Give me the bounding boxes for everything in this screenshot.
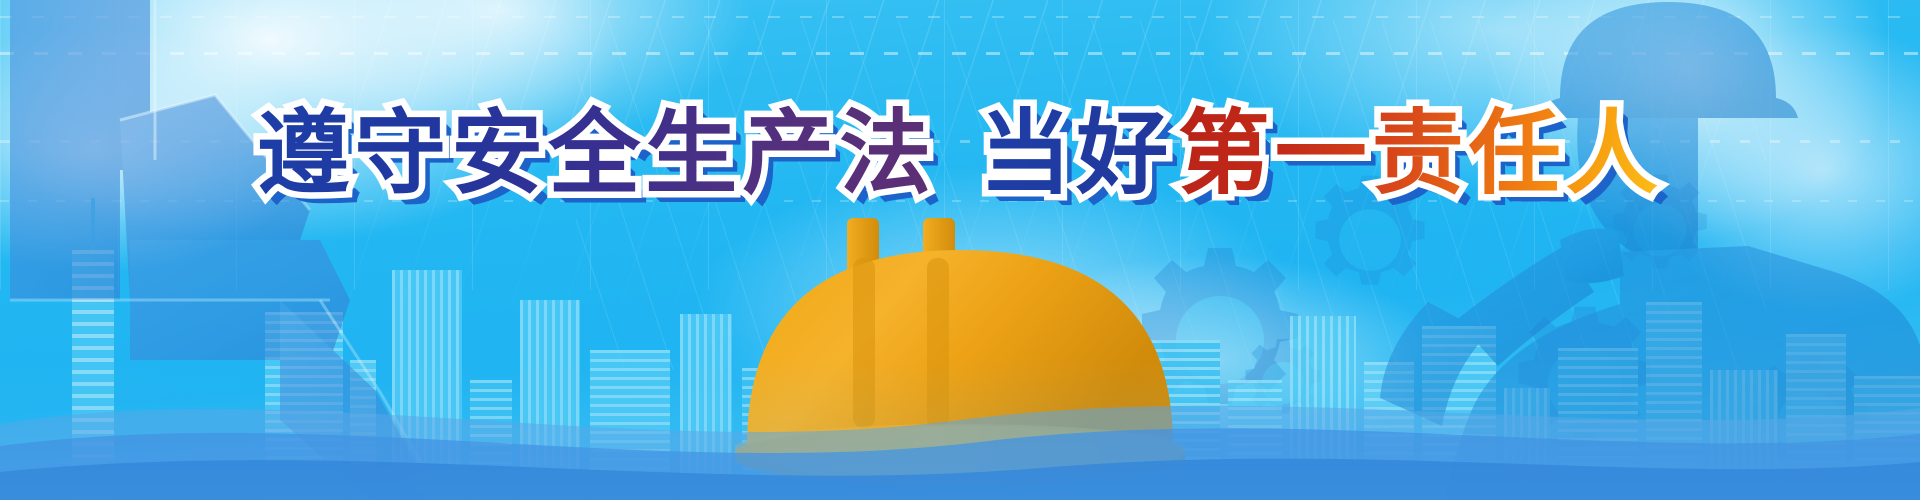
horizontal-dashed-tech-lines-secondary: [0, 0, 1920, 310]
headline-segment-3: 第一责任人 第一责任人: [1178, 108, 1663, 200]
headline-segment-2: 当好 当好: [979, 108, 1173, 200]
gear-icon: [1235, 335, 1331, 431]
headline-segment-3-fill: 第一责任人: [1178, 100, 1663, 207]
diagonal-perspective-rays-secondary: [576, 20, 1766, 370]
gear-icon: [1735, 350, 1885, 500]
safety-helmet-graphic: [735, 218, 1185, 500]
bottom-waves: [0, 350, 1920, 500]
headline-segment-1-fill: 遵守安全生产法: [257, 100, 936, 207]
gear-icon: [1500, 300, 1670, 470]
worker-silhouette: [1260, 0, 1920, 500]
sky-clouds-background: [0, 0, 1920, 500]
headline-segment-1: 遵守安全生产法 遵守安全生产法: [257, 108, 936, 200]
headline-segment-2-fill: 当好: [979, 100, 1173, 207]
gear-icon: [1120, 240, 1320, 440]
headline: 遵守安全生产法 遵守安全生产法 当好 当好 第一责任人 第一责任人: [0, 108, 1920, 200]
gear-icon: [1300, 170, 1440, 310]
vertical-grid-lines: [0, 0, 1920, 290]
robot-arm-silhouette: [0, 0, 740, 500]
headline-segment-1-outline: 遵守安全生产法: [257, 108, 936, 200]
tv-tower-silhouette: [72, 250, 114, 500]
city-skyline: [0, 190, 1920, 500]
safety-production-banner: 遵守安全生产法 遵守安全生产法 当好 当好 第一责任人 第一责任人: [0, 0, 1920, 500]
diagonal-perspective-rays: [346, 0, 1728, 360]
bottom-vignette: [0, 0, 1920, 500]
headline-segment-2-outline: 当好: [979, 108, 1173, 200]
headline-segment-3-outline: 第一责任人: [1178, 108, 1663, 200]
horizontal-dashed-tech-lines: [0, 0, 1920, 310]
gear-icon: [1600, 170, 1720, 290]
